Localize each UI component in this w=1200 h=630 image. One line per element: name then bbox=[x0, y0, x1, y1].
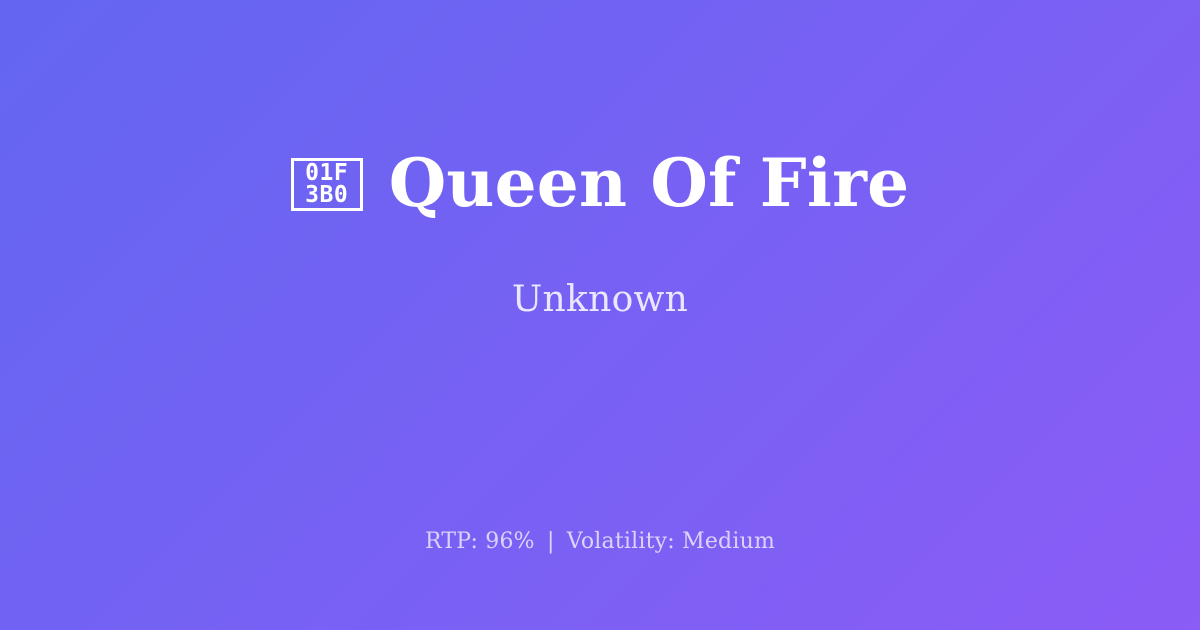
game-preview-card: 01F 3B0 Queen Of Fire Unknown RTP: 96% |… bbox=[0, 0, 1200, 630]
hero-block: 01F 3B0 Queen Of Fire Unknown bbox=[0, 0, 1200, 472]
rtp-value: 96% bbox=[485, 529, 535, 554]
slot-machine-icon-hex-top: 01F bbox=[305, 162, 348, 184]
slot-machine-icon-hex-bottom: 3B0 bbox=[305, 184, 348, 206]
game-meta-line: RTP: 96% | Volatility: Medium bbox=[0, 528, 1200, 556]
volatility-value: Medium bbox=[682, 529, 775, 554]
slot-machine-icon: 01F 3B0 bbox=[291, 158, 363, 211]
meta-separator: | bbox=[542, 529, 560, 554]
volatility-label: Volatility: bbox=[567, 529, 675, 554]
rtp-label: RTP: bbox=[425, 529, 478, 554]
game-title: Queen Of Fire bbox=[389, 149, 910, 218]
title-row: 01F 3B0 Queen Of Fire bbox=[291, 149, 910, 218]
game-provider-subtitle: Unknown bbox=[512, 280, 688, 320]
